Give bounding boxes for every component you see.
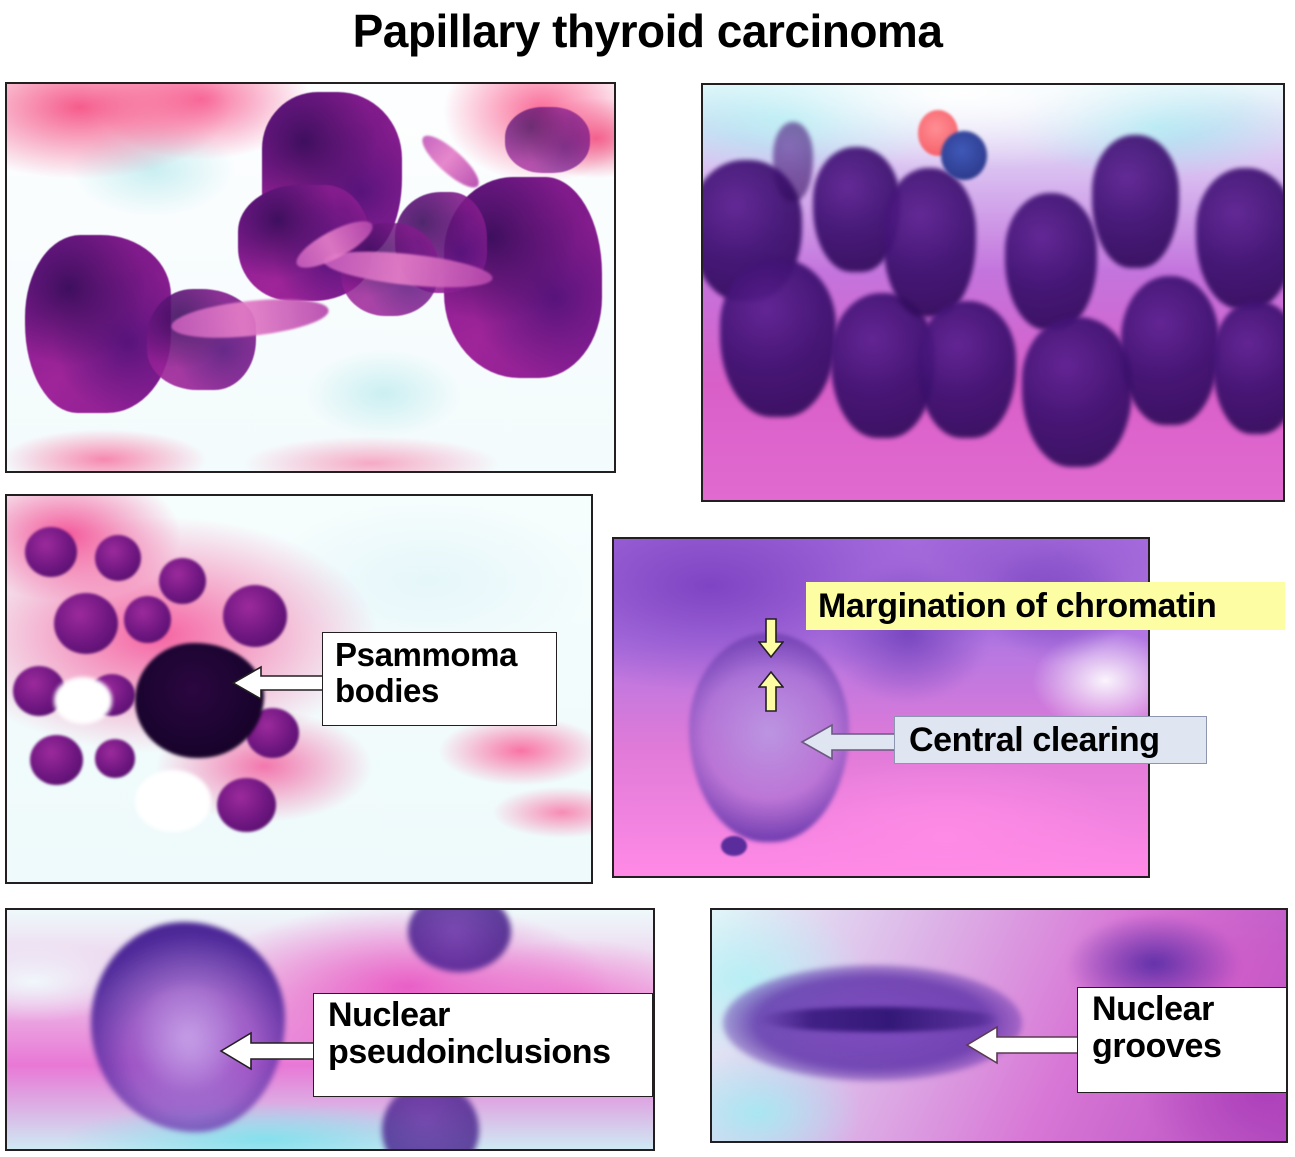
papillary-formations-micrograph: Papillary formations <box>5 82 616 473</box>
nuclear-grooves-arrow-icon <box>965 1022 1087 1068</box>
label-nuclear-grooves: Nuclear grooves <box>1077 987 1287 1093</box>
nucleus <box>25 527 78 577</box>
nucleus <box>918 301 1017 438</box>
cell-cluster <box>505 107 590 173</box>
nucleus <box>1092 135 1179 268</box>
nucleus <box>223 585 287 647</box>
nucleus <box>54 593 118 655</box>
nuclear-pseudoinclusions-arrow-icon <box>219 1028 323 1074</box>
nucleus <box>124 596 171 642</box>
nucleus <box>95 535 142 581</box>
nucleus <box>1022 317 1132 466</box>
nucleus <box>95 739 136 778</box>
chromatin-dot <box>721 836 748 856</box>
central-clearing-arrow-icon <box>800 720 906 764</box>
nucleus <box>720 259 836 417</box>
micrograph-image-papillary <box>7 84 614 471</box>
nucleus <box>1196 168 1283 309</box>
label-margination-of-chromatin: Margination of chromatin <box>806 582 1285 630</box>
vacuole <box>135 770 211 832</box>
nucleus <box>408 910 511 972</box>
label-psammoma-bodies: Psammoma bodies <box>322 632 557 726</box>
micrograph-image-crowded <box>703 85 1283 500</box>
nucleus <box>941 131 987 181</box>
nucleus <box>159 558 206 604</box>
nucleus <box>773 122 814 201</box>
crowded-overlapping-nuclei-micrograph: Crowded overlapping nuclei <box>701 83 1285 502</box>
chromatin-margination-up-arrow-icon <box>758 670 784 712</box>
psammoma-bodies-arrow-icon <box>231 662 331 704</box>
nucleus <box>1121 276 1220 425</box>
label-nuclear-pseudoinclusions: Nuclear pseudoinclusions <box>313 993 653 1097</box>
nucleus <box>1005 193 1098 330</box>
chromatin-margination-down-arrow-icon <box>758 618 784 658</box>
nucleus <box>30 735 83 785</box>
label-central-clearing: Central clearing <box>894 716 1207 764</box>
fibrovascular-core <box>415 128 485 194</box>
vacuole <box>54 677 112 723</box>
nucleus <box>1213 301 1283 434</box>
nucleus <box>217 778 275 832</box>
nucleus <box>883 168 976 317</box>
page-title: Papillary thyroid carcinoma <box>0 4 1295 58</box>
